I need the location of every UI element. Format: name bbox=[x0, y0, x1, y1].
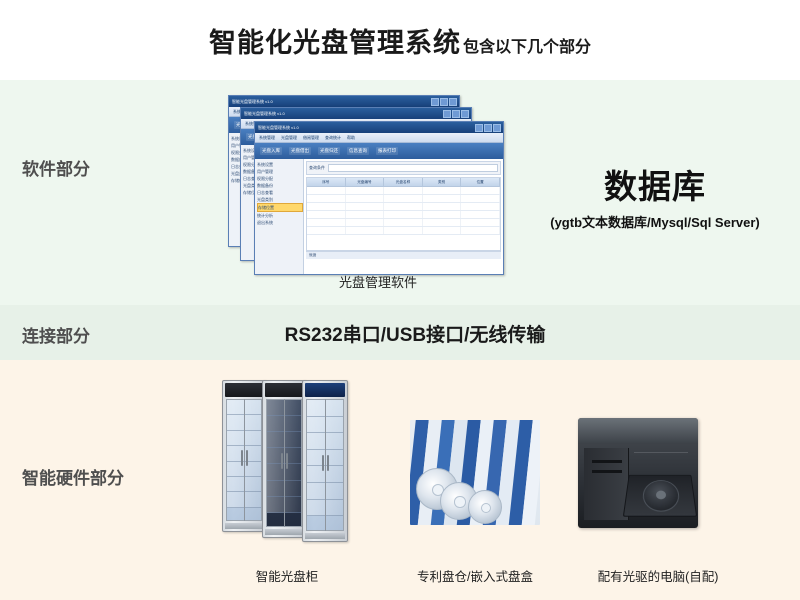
pc-panel-line bbox=[634, 452, 688, 453]
maximize-icon[interactable] bbox=[440, 98, 448, 106]
menu-item-0[interactable]: 系统管理 bbox=[259, 135, 275, 141]
disc-slot bbox=[642, 480, 681, 512]
connect-band-label: 连接部分 bbox=[22, 322, 90, 347]
close-icon[interactable] bbox=[449, 98, 457, 106]
close-icon[interactable] bbox=[493, 124, 501, 132]
data-table: 序号 光盘编号 光盘名称 类别 位置 bbox=[306, 177, 501, 251]
pc-top-panel bbox=[578, 418, 698, 444]
software-band-label: 软件部分 bbox=[22, 155, 90, 180]
search-input[interactable] bbox=[328, 164, 498, 172]
maximize-icon[interactable] bbox=[484, 124, 492, 132]
pc-front-panel bbox=[584, 448, 629, 520]
window-body: 系统设置 用户管理 权限分配 数据备份 日志查看 光盘类别 存储位置 统计分析 … bbox=[255, 159, 503, 275]
window-titlebar: 智能光盘管理系统 v1.0 bbox=[255, 122, 503, 133]
toolbar-button-2[interactable]: 光盘归还 bbox=[318, 147, 340, 155]
window-controls[interactable] bbox=[431, 98, 459, 106]
minimize-icon[interactable] bbox=[475, 124, 483, 132]
menu-item-1[interactable]: 光盘管理 bbox=[281, 135, 297, 141]
hardware-band-label: 智能硬件部分 bbox=[22, 464, 124, 489]
header-inner: 智能化光盘管理系统 包含以下几个部分 bbox=[209, 21, 591, 60]
window-toolbar[interactable]: 光盘入库 光盘借出 光盘归还 信息查询 报表打印 bbox=[255, 143, 503, 159]
window-title-text: 智能光盘管理系统 v1.0 bbox=[232, 99, 273, 104]
toolbar-button-4[interactable]: 报表打印 bbox=[376, 147, 398, 155]
table-row[interactable] bbox=[307, 187, 500, 195]
cabinet-handle bbox=[241, 450, 243, 466]
toolbar-button-3[interactable]: 信息查询 bbox=[347, 147, 369, 155]
sidebar-item-3[interactable]: 数据备份 bbox=[257, 182, 303, 189]
window-title-text: 智能光盘管理系统 v1.0 bbox=[258, 125, 299, 130]
disc bbox=[468, 490, 502, 524]
database-subtitle: (ygtb文本数据库/Mysql/Sql Server) bbox=[520, 212, 790, 231]
column-header-4: 位置 bbox=[461, 178, 500, 186]
sidebar-item-4[interactable]: 日志查看 bbox=[257, 189, 303, 196]
disc-bin-caption: 专利盘仓/嵌入式盘盒 bbox=[400, 566, 550, 585]
cabinet-illustration bbox=[222, 380, 352, 540]
window-controls[interactable] bbox=[475, 124, 503, 132]
window-title-text: 智能光盘管理系统 v1.0 bbox=[244, 111, 285, 116]
cabinet-header-panel bbox=[305, 383, 345, 397]
cabinet-header-panel bbox=[265, 383, 303, 397]
cabinet-door-split bbox=[325, 399, 326, 531]
pc-illustration bbox=[578, 418, 698, 528]
window-titlebar: 智能光盘管理系统 v1.0 bbox=[241, 108, 471, 119]
pc-drive-slot bbox=[592, 460, 622, 463]
sidebar-item-7[interactable]: 统计分析 bbox=[257, 212, 303, 219]
table-header: 序号 光盘编号 光盘名称 类别 位置 bbox=[307, 178, 500, 187]
menu-item-4[interactable]: 帮助 bbox=[347, 135, 355, 141]
cabinet-handle bbox=[281, 453, 283, 469]
table-row[interactable] bbox=[307, 195, 500, 203]
search-bar[interactable]: 查询条件 bbox=[306, 161, 501, 175]
optical-drive-tray bbox=[623, 475, 697, 517]
toolbar-button-0[interactable]: 光盘入库 bbox=[260, 147, 282, 155]
diagram-page: 智能化光盘管理系统 包含以下几个部分 软件部分 连接部分 智能硬件部分 智能光盘… bbox=[0, 0, 800, 600]
software-caption: 光盘管理软件 bbox=[228, 272, 528, 291]
sidebar-item-5[interactable]: 光盘类别 bbox=[257, 196, 303, 203]
table-row[interactable] bbox=[307, 227, 500, 235]
cabinet-header-panel bbox=[225, 383, 263, 397]
window-content: 查询条件 序号 光盘编号 光盘名称 类别 位置 bbox=[304, 159, 503, 275]
page-header: 智能化光盘管理系统 包含以下几个部分 bbox=[0, 0, 800, 80]
sidebar-item-selected[interactable]: 存储位置 bbox=[257, 203, 303, 212]
software-screenshot-stack: 智能光盘管理系统 v1.0 系统管理 光盘管理 借阅管理 查询统计 帮助 光盘入… bbox=[228, 95, 528, 273]
sidebar-item-2[interactable]: 权限分配 bbox=[257, 175, 303, 182]
menu-item-3[interactable]: 查询统计 bbox=[325, 135, 341, 141]
cabinet-door-split bbox=[284, 399, 285, 527]
pc-drive-slot bbox=[592, 470, 622, 473]
sidebar-item-1[interactable]: 用户管理 bbox=[257, 168, 303, 175]
cabinet-handle bbox=[246, 450, 248, 466]
table-row[interactable] bbox=[307, 211, 500, 219]
menu-item-2[interactable]: 借阅管理 bbox=[303, 135, 319, 141]
table-row[interactable] bbox=[307, 219, 500, 227]
cabinet-base bbox=[305, 533, 345, 539]
close-icon[interactable] bbox=[461, 110, 469, 118]
column-header-1: 光盘编号 bbox=[346, 178, 385, 186]
pc-caption: 配有光驱的电脑(自配) bbox=[573, 566, 743, 585]
window-menubar[interactable]: 系统管理 光盘管理 借阅管理 查询统计 帮助 bbox=[255, 133, 503, 143]
cabinet-middle bbox=[262, 380, 306, 538]
database-block: 数据库 (ygtb文本数据库/Mysql/Sql Server) bbox=[520, 160, 790, 231]
connect-text: RS232串口/USB接口/无线传输 bbox=[200, 320, 630, 347]
sidebar-item-8[interactable]: 退出系统 bbox=[257, 219, 303, 226]
column-header-2: 光盘名称 bbox=[384, 178, 423, 186]
table-row[interactable] bbox=[307, 203, 500, 211]
status-bar: 就绪 bbox=[306, 251, 501, 259]
disc-bin-illustration bbox=[410, 420, 540, 525]
cabinet-handle bbox=[286, 453, 288, 469]
minimize-icon[interactable] bbox=[431, 98, 439, 106]
cabinet-handle bbox=[322, 455, 324, 471]
database-title: 数据库 bbox=[520, 160, 790, 208]
column-header-3: 类别 bbox=[423, 178, 462, 186]
window-sidebar[interactable]: 系统设置 用户管理 权限分配 数据备份 日志查看 光盘类别 存储位置 统计分析 … bbox=[255, 159, 304, 275]
sidebar-item-0[interactable]: 系统设置 bbox=[257, 161, 303, 168]
cabinet-handle bbox=[327, 455, 329, 471]
cabinet-base bbox=[265, 529, 303, 535]
search-label: 查询条件 bbox=[309, 165, 325, 171]
maximize-icon[interactable] bbox=[452, 110, 460, 118]
cabinet-right bbox=[302, 380, 348, 542]
window-titlebar: 智能光盘管理系统 v1.0 bbox=[229, 96, 459, 107]
minimize-icon[interactable] bbox=[443, 110, 451, 118]
window-controls[interactable] bbox=[443, 110, 471, 118]
app-window-front: 智能光盘管理系统 v1.0 系统管理 光盘管理 借阅管理 查询统计 帮助 光盘入… bbox=[254, 121, 504, 275]
cabinet-left bbox=[222, 380, 266, 532]
column-header-0: 序号 bbox=[307, 178, 346, 186]
cabinet-door-split bbox=[244, 399, 245, 521]
cabinet-caption: 智能光盘柜 bbox=[222, 566, 352, 585]
page-title: 智能化光盘管理系统 bbox=[209, 21, 461, 60]
cabinet-base bbox=[225, 523, 263, 529]
toolbar-button-1[interactable]: 光盘借出 bbox=[289, 147, 311, 155]
page-subtitle: 包含以下几个部分 bbox=[463, 33, 591, 57]
